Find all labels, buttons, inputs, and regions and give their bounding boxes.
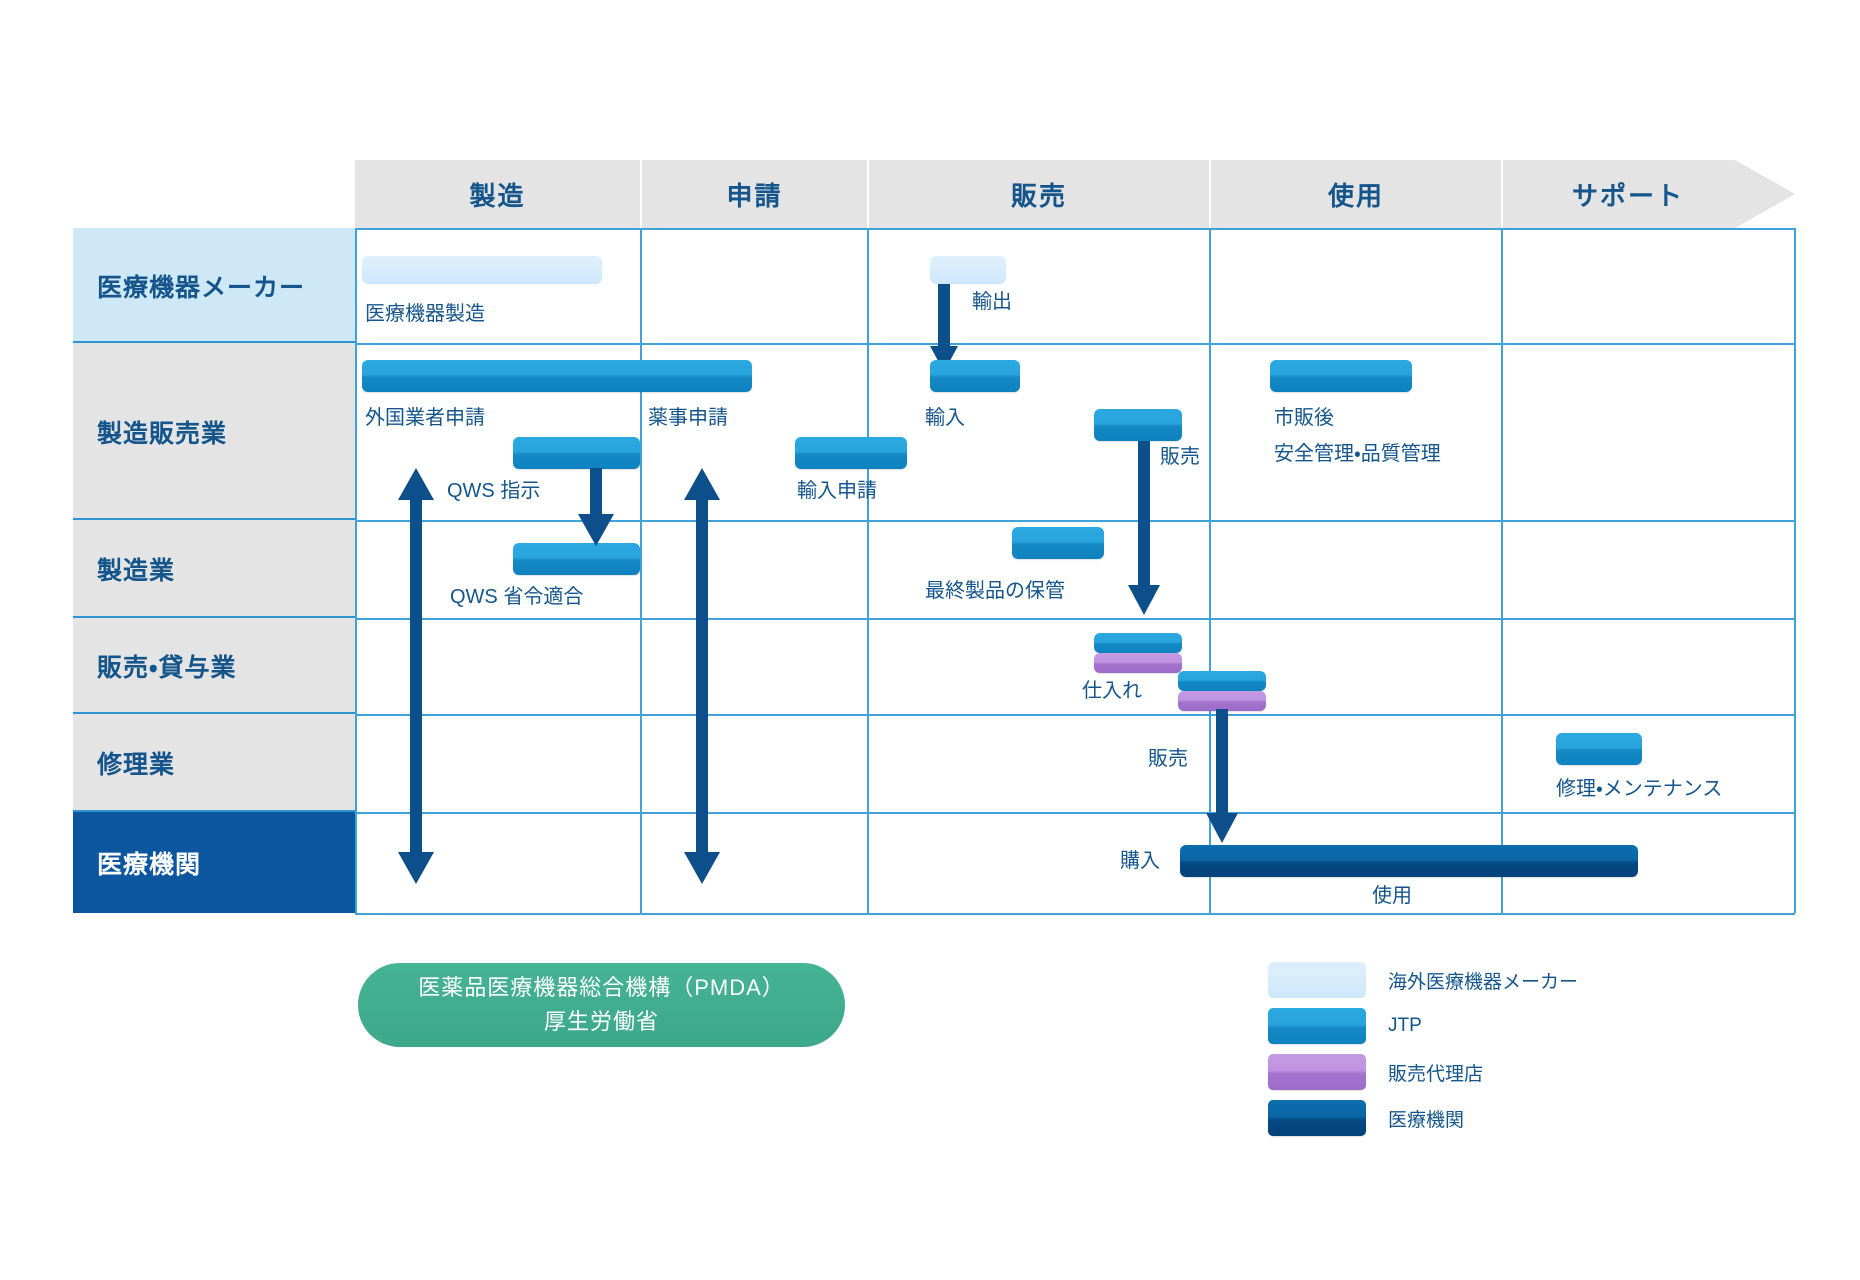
label-purchase-in: 仕入れ — [1082, 677, 1142, 706]
arrow-sales-to-hospital-down — [1206, 709, 1238, 849]
label-purchase: 購入 — [1120, 847, 1160, 876]
diagram-canvas: 製造 申請 販売 使用 サポート 医療機器メーカー 製造販売業 — [0, 0, 1860, 1280]
grid-line-horizontal — [355, 812, 1795, 814]
row-label-repair: 修理業 — [73, 714, 355, 812]
label-pharma-application: 薬事申請 — [648, 404, 728, 433]
bar-purchase-in-dealer — [1094, 653, 1182, 673]
label-final-storage: 最終製品の保管 — [925, 577, 1065, 606]
legend-swatch-hospital — [1268, 1100, 1366, 1136]
legend-swatch-overseas — [1268, 962, 1366, 998]
label-import-application: 輸入申請 — [797, 477, 877, 506]
bar-hospital-use — [1180, 845, 1638, 877]
label-post-market-line1: 市販後 — [1274, 404, 1334, 433]
arrow-head — [1128, 585, 1160, 615]
bar-post-market — [1270, 360, 1412, 392]
arrow-qws-down — [578, 468, 614, 550]
phase-label: サポート — [1572, 176, 1684, 213]
arrow-head-down — [398, 852, 434, 884]
bar-purchase-in-jtp — [1094, 633, 1182, 653]
arrow-head-down — [684, 852, 720, 884]
bar-qws-instruction — [513, 437, 640, 469]
arrow-shaft — [1138, 441, 1150, 587]
row-label-sales-lease: 販売・貸与業 — [73, 618, 355, 714]
row-label-text: 製造業 — [97, 551, 175, 587]
bar-import-application — [795, 437, 907, 469]
bar-export-overseas — [930, 256, 1006, 284]
grid-line-horizontal — [355, 913, 1795, 915]
row-label-text: 修理業 — [97, 745, 175, 781]
arrow-sales-down — [1128, 441, 1160, 621]
label-export: 輸出 — [972, 288, 1012, 317]
row-label-manufacturer: 製造業 — [73, 520, 355, 618]
authority-line-1: 医薬品医療機器総合機構（PMDA） — [418, 971, 785, 1005]
arrow-manufacture-regulatory — [398, 468, 434, 918]
phase-label: 使用 — [1328, 176, 1384, 213]
label-qws-compliance: QWS 省令適合 — [450, 583, 583, 612]
authority-box-pmda: 医薬品医療機器総合機構（PMDA） 厚生労働省 — [358, 963, 845, 1047]
label-use: 使用 — [1372, 882, 1412, 911]
authority-line-2: 厚生労働省 — [544, 1005, 659, 1039]
label-foreign-application: 外国業者申請 — [365, 404, 485, 433]
grid-line-horizontal — [355, 618, 1795, 620]
phase-header-manufacture: 製造 — [355, 160, 640, 228]
grid-line-vertical — [867, 228, 869, 913]
bar-foreign-application — [362, 360, 752, 392]
arrow-shaft — [938, 284, 950, 348]
legend-label: 販売代理店 — [1388, 1054, 1483, 1090]
legend-label: 医療機関 — [1388, 1100, 1464, 1136]
arrow-application-regulatory — [684, 468, 720, 918]
bar-sales-upper — [1094, 409, 1182, 441]
label-post-market-line2: 安全管理・品質管理 — [1274, 440, 1441, 469]
row-label-marketing-authorization: 製造販売業 — [73, 343, 355, 520]
row-label-medical-institution: 医療機関 — [73, 812, 355, 913]
phase-label: 販売 — [1011, 176, 1067, 213]
bar-final-storage — [1012, 527, 1104, 559]
phase-label: 申請 — [726, 176, 782, 213]
grid-line-vertical — [640, 228, 642, 913]
grid-line-horizontal — [355, 228, 1795, 230]
arrow-head-up — [398, 468, 434, 500]
row-label-text: 医療機器メーカー — [97, 268, 305, 304]
row-label-text: 医療機関 — [97, 845, 201, 881]
grid-line-horizontal — [355, 343, 1795, 345]
row-label-text: 製造販売業 — [97, 414, 227, 450]
grid-line-horizontal — [355, 520, 1795, 522]
arrow-shaft — [590, 468, 602, 516]
bar-qws-compliance — [513, 543, 640, 575]
bar-dealer-stock-jtp — [1178, 671, 1266, 691]
arrow-shaft — [696, 498, 708, 854]
grid-line-vertical — [1501, 228, 1503, 913]
arrow-shaft — [1216, 709, 1228, 815]
label-qws-instruction: QWS 指示 — [447, 477, 540, 506]
bar-import — [930, 360, 1020, 392]
grid-line-horizontal — [355, 714, 1795, 716]
grid-line-vertical — [1794, 228, 1796, 913]
phase-header-band: 製造 申請 販売 使用 サポート — [355, 160, 1795, 228]
phase-header-support: サポート — [1503, 160, 1753, 228]
phase-header-sales: 販売 — [869, 160, 1209, 228]
label-sales-upper: 販売 — [1160, 443, 1200, 472]
phase-header-application: 申請 — [642, 160, 867, 228]
arrow-shaft — [410, 498, 422, 854]
arrow-head-up — [684, 468, 720, 500]
legend-swatch-jtp — [1268, 1008, 1366, 1044]
phase-label: 製造 — [469, 176, 525, 213]
legend-label: JTP — [1388, 1008, 1422, 1044]
label-sales-lower: 販売 — [1148, 745, 1188, 774]
phase-header-use: 使用 — [1211, 160, 1501, 228]
arrow-head — [578, 514, 614, 546]
arrow-head — [1206, 813, 1238, 843]
legend-swatch-dealer — [1268, 1054, 1366, 1090]
bar-dealer-stock-dealer — [1178, 691, 1266, 711]
legend-label: 海外医療機器メーカー — [1388, 962, 1578, 998]
bar-manufacture-overseas — [362, 256, 602, 284]
grid-line-vertical — [355, 228, 357, 913]
label-import: 輸入 — [925, 404, 965, 433]
label-repair-maintenance: 修理・メンテナンス — [1556, 775, 1722, 804]
row-label-text: 販売・貸与業 — [97, 648, 237, 684]
bar-repair-maintenance — [1556, 733, 1642, 765]
label-manufacture: 医療機器製造 — [365, 300, 485, 329]
row-label-device-maker: 医療機器メーカー — [73, 228, 355, 343]
